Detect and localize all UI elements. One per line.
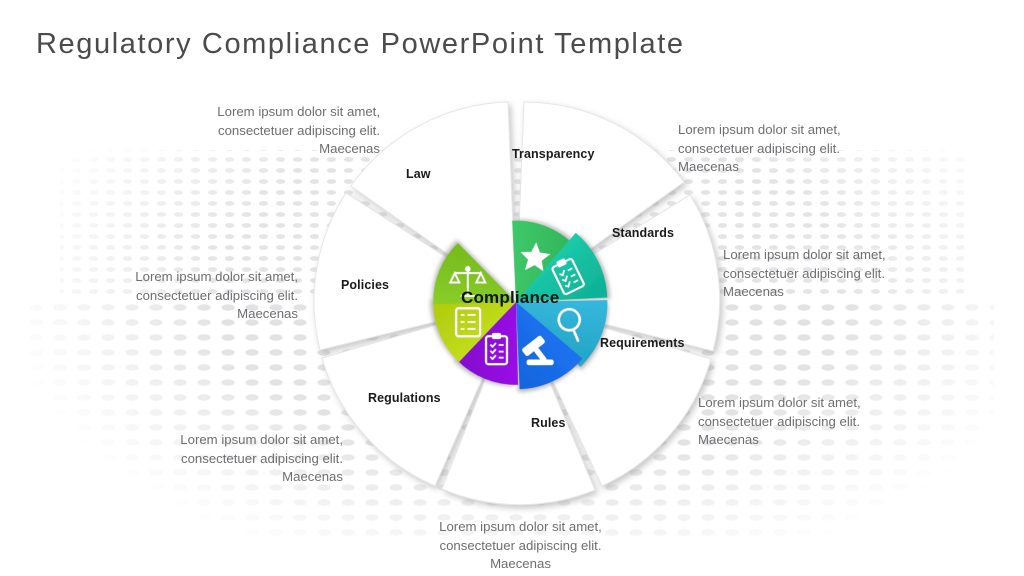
page-title: Regulatory Compliance PowerPoint Templat…	[36, 28, 685, 61]
segment-label-transparency: Transparency	[512, 147, 595, 161]
segment-label-standards: Standards	[612, 226, 674, 240]
center-label: Compliance	[461, 288, 559, 308]
note-bottom-right: Lorem ipsum dolor sit amet, consectetuer…	[698, 394, 913, 450]
note-top-left: Lorem ipsum dolor sit amet, consectetuer…	[180, 103, 380, 159]
segment-label-law: Law	[406, 167, 431, 181]
note-top-right: Lorem ipsum dolor sit amet, consectetuer…	[678, 121, 893, 177]
note-mid-right: Lorem ipsum dolor sit amet, consectetuer…	[723, 246, 938, 302]
note-bottom-center: Lorem ipsum dolor sit amet, consectetuer…	[418, 518, 623, 574]
segment-label-requirements: Requirements	[600, 336, 685, 350]
note-bottom-left: Lorem ipsum dolor sit amet, consectetuer…	[128, 431, 343, 487]
segment-label-policies: Policies	[341, 278, 389, 292]
segment-label-regulations: Regulations	[368, 391, 441, 405]
note-mid-left: Lorem ipsum dolor sit amet, consectetuer…	[98, 268, 298, 324]
segment-label-rules: Rules	[531, 416, 566, 430]
